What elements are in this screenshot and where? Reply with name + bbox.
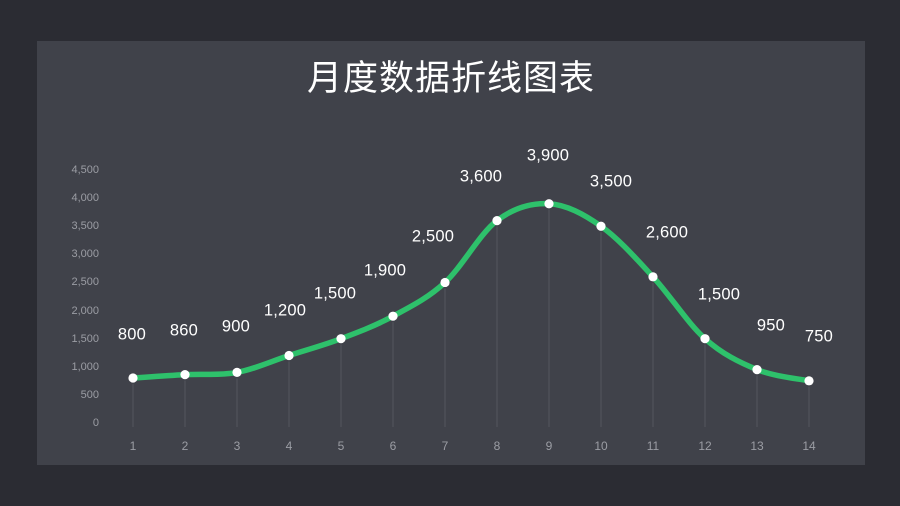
line-series-layer	[37, 41, 865, 465]
x-axis-tick-label: 2	[182, 439, 189, 453]
y-axis-tick-label: 0	[37, 417, 99, 429]
y-axis-tick-label: 3,000	[37, 248, 99, 260]
data-point-marker[interactable]	[648, 272, 657, 281]
x-axis-tick-label: 1	[130, 439, 137, 453]
chart-panel: 月度数据折线图表 05001,0001,5002,0002,5003,0003,…	[37, 41, 865, 465]
data-point-marker[interactable]	[128, 373, 137, 382]
data-point-label: 3,500	[590, 173, 632, 192]
data-point-label: 1,500	[698, 285, 740, 304]
data-point-marker[interactable]	[336, 334, 345, 343]
data-point-label: 3,900	[527, 146, 569, 165]
x-axis-tick-label: 8	[494, 439, 501, 453]
x-axis-tick-label: 4	[286, 439, 293, 453]
data-point-label: 950	[757, 316, 785, 335]
data-point-marker[interactable]	[388, 312, 397, 321]
slide-canvas: 月度数据折线图表 05001,0001,5002,0002,5003,0003,…	[0, 0, 900, 506]
data-point-label: 1,900	[364, 262, 406, 281]
data-point-marker[interactable]	[180, 370, 189, 379]
plot-area: 05001,0001,5002,0002,5003,0003,5004,0004…	[37, 41, 865, 465]
data-point-label: 800	[118, 326, 146, 345]
x-axis-tick-label: 7	[442, 439, 449, 453]
y-axis-tick-label: 2,000	[37, 305, 99, 317]
data-point-marker[interactable]	[284, 351, 293, 360]
data-point-marker[interactable]	[492, 216, 501, 225]
data-point-marker[interactable]	[232, 368, 241, 377]
data-point-label: 2,600	[646, 223, 688, 242]
data-point-label: 1,200	[264, 301, 306, 320]
x-axis-tick-label: 12	[698, 439, 711, 453]
x-axis-tick-label: 11	[647, 439, 659, 453]
x-axis-tick-label: 13	[750, 439, 763, 453]
data-point-label: 2,500	[412, 228, 454, 247]
y-axis-tick-label: 2,500	[37, 276, 99, 288]
data-point-label: 860	[170, 321, 198, 340]
y-axis-tick-label: 1,500	[37, 333, 99, 345]
data-point-label: 3,600	[460, 167, 502, 186]
x-axis-tick-label: 3	[234, 439, 241, 453]
y-axis-tick-label: 1,000	[37, 361, 99, 373]
x-axis-tick-label: 9	[546, 439, 553, 453]
y-axis-tick-label: 3,500	[37, 220, 99, 232]
data-point-marker[interactable]	[804, 376, 813, 385]
data-point-marker[interactable]	[440, 278, 449, 287]
data-point-label: 900	[222, 318, 250, 337]
y-axis-tick-label: 4,000	[37, 192, 99, 204]
x-axis-tick-label: 10	[594, 439, 607, 453]
data-point-label: 1,500	[314, 284, 356, 303]
data-point-marker[interactable]	[752, 365, 761, 374]
x-axis-tick-label: 6	[390, 439, 397, 453]
y-axis-tick-label: 4,500	[37, 164, 99, 176]
x-axis-tick-label: 5	[338, 439, 345, 453]
data-point-label: 750	[805, 327, 833, 346]
x-axis-tick-label: 14	[802, 439, 815, 453]
data-point-marker[interactable]	[700, 334, 709, 343]
y-axis-tick-label: 500	[37, 389, 99, 401]
data-point-marker[interactable]	[544, 199, 553, 208]
data-point-marker[interactable]	[596, 222, 605, 231]
